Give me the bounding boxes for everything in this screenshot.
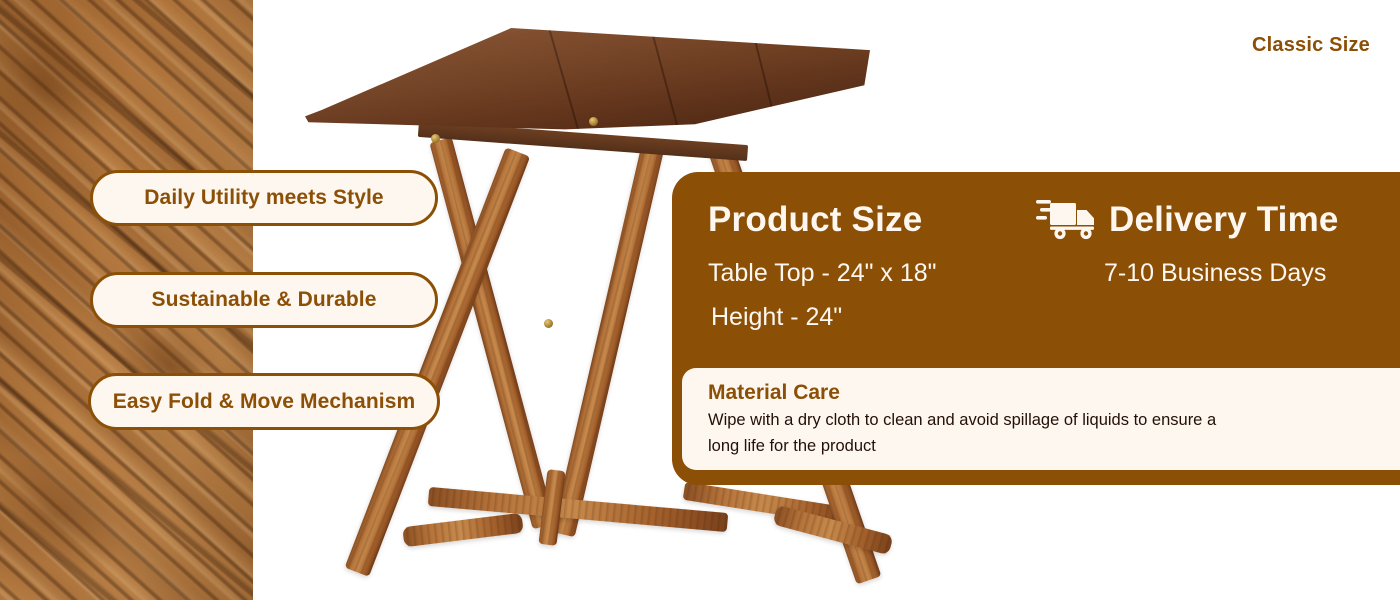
material-care-card: Material Care Wipe with a dry cloth to c… — [682, 368, 1400, 470]
brass-screw — [589, 117, 598, 126]
feature-pill-daily-utility: Daily Utility meets Style — [90, 170, 438, 226]
feature-pill-label: Sustainable & Durable — [152, 288, 377, 312]
classic-size-badge: Classic Size — [1252, 34, 1370, 57]
product-size-height: Height - 24" — [711, 303, 842, 332]
delivery-time-title: Delivery Time — [1109, 200, 1339, 240]
product-size-title: Product Size — [708, 200, 922, 240]
table-foot — [402, 513, 524, 547]
material-care-description: Wipe with a dry cloth to clean and avoid… — [708, 408, 1238, 459]
brass-screw — [431, 134, 440, 143]
feature-pill-label: Easy Fold & Move Mechanism — [113, 390, 416, 414]
delivery-truck-icon — [1036, 196, 1102, 242]
product-size-table-top: Table Top - 24" x 18" — [708, 259, 937, 288]
delivery-time-duration: 7-10 Business Days — [1104, 259, 1326, 288]
product-infographic: Daily Utility meets Style Sustainable & … — [0, 0, 1400, 600]
table-leg — [552, 137, 666, 537]
material-care-title: Material Care — [708, 380, 1400, 405]
brass-screw — [544, 319, 553, 328]
feature-pill-easy-fold: Easy Fold & Move Mechanism — [88, 373, 440, 430]
feature-pill-sustainable: Sustainable & Durable — [90, 272, 438, 328]
feature-pill-label: Daily Utility meets Style — [144, 186, 383, 210]
